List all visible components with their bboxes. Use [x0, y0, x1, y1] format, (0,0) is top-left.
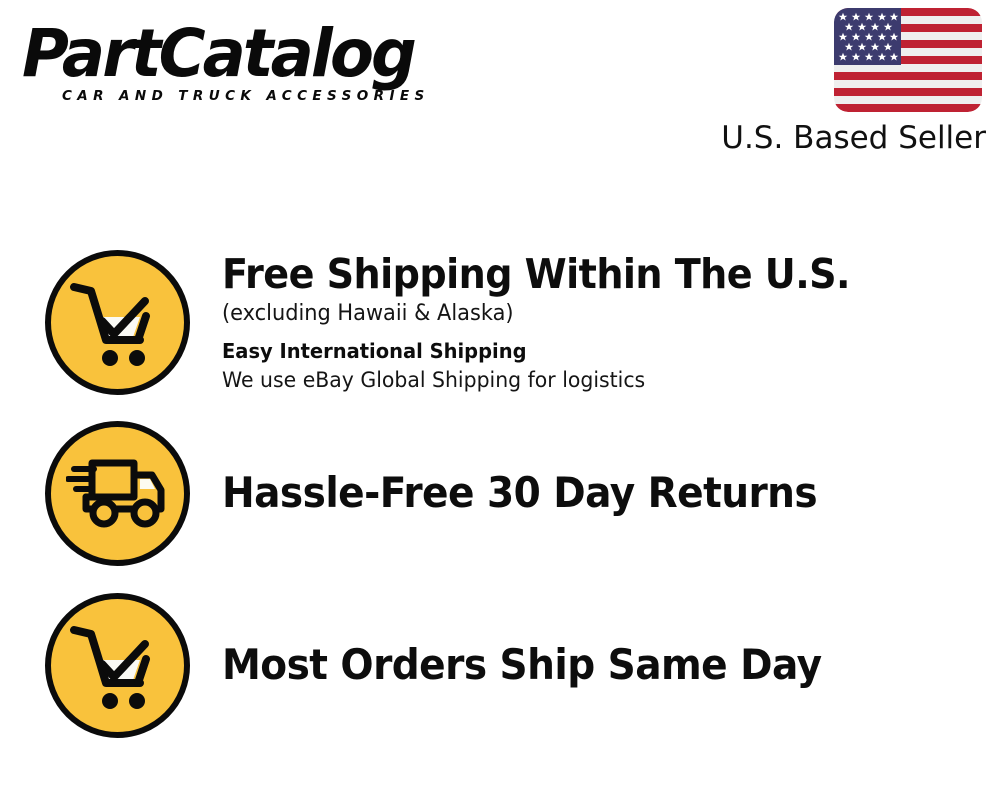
delivery-truck-icon	[45, 421, 190, 566]
shopping-cart-check-icon	[45, 250, 190, 395]
feature-text-block: Free Shipping Within The U.S. (excluding…	[222, 249, 1000, 396]
feature-headline: Free Shipping Within The U.S.	[222, 249, 927, 299]
us-based-seller-badge: U.S. Based Seller	[716, 8, 986, 156]
feature-text-block: Hassle-Free 30 Day Returns	[222, 468, 1000, 518]
feature-subtext-strong: Easy International Shipping	[222, 336, 942, 366]
shopping-cart-check-icon	[45, 593, 190, 738]
feature-subtext: (excluding Hawaii & Alaska)	[222, 299, 942, 329]
us-flag-icon	[834, 8, 982, 112]
brand-logo[interactable]: PartCatalog CAR AND TRUCK ACCESSORIES	[22, 18, 502, 118]
feature-list: Free Shipping Within The U.S. (excluding…	[0, 180, 1000, 800]
feature-subtext-detail: We use eBay Global Shipping for logistic…	[222, 366, 942, 396]
feature-row: Hassle-Free 30 Day Returns	[0, 413, 1000, 573]
feature-headline: Most Orders Ship Same Day	[222, 640, 927, 690]
page-header: PartCatalog CAR AND TRUCK ACCESSORIES	[0, 0, 1000, 180]
feature-text-block: Most Orders Ship Same Day	[222, 640, 1000, 690]
us-based-seller-label: U.S. Based Seller	[716, 120, 986, 156]
feature-row: Free Shipping Within The U.S. (excluding…	[0, 242, 1000, 402]
feature-row: Most Orders Ship Same Day	[0, 585, 1000, 745]
brand-wordmark: PartCatalog	[22, 18, 488, 90]
feature-headline: Hassle-Free 30 Day Returns	[222, 468, 927, 518]
